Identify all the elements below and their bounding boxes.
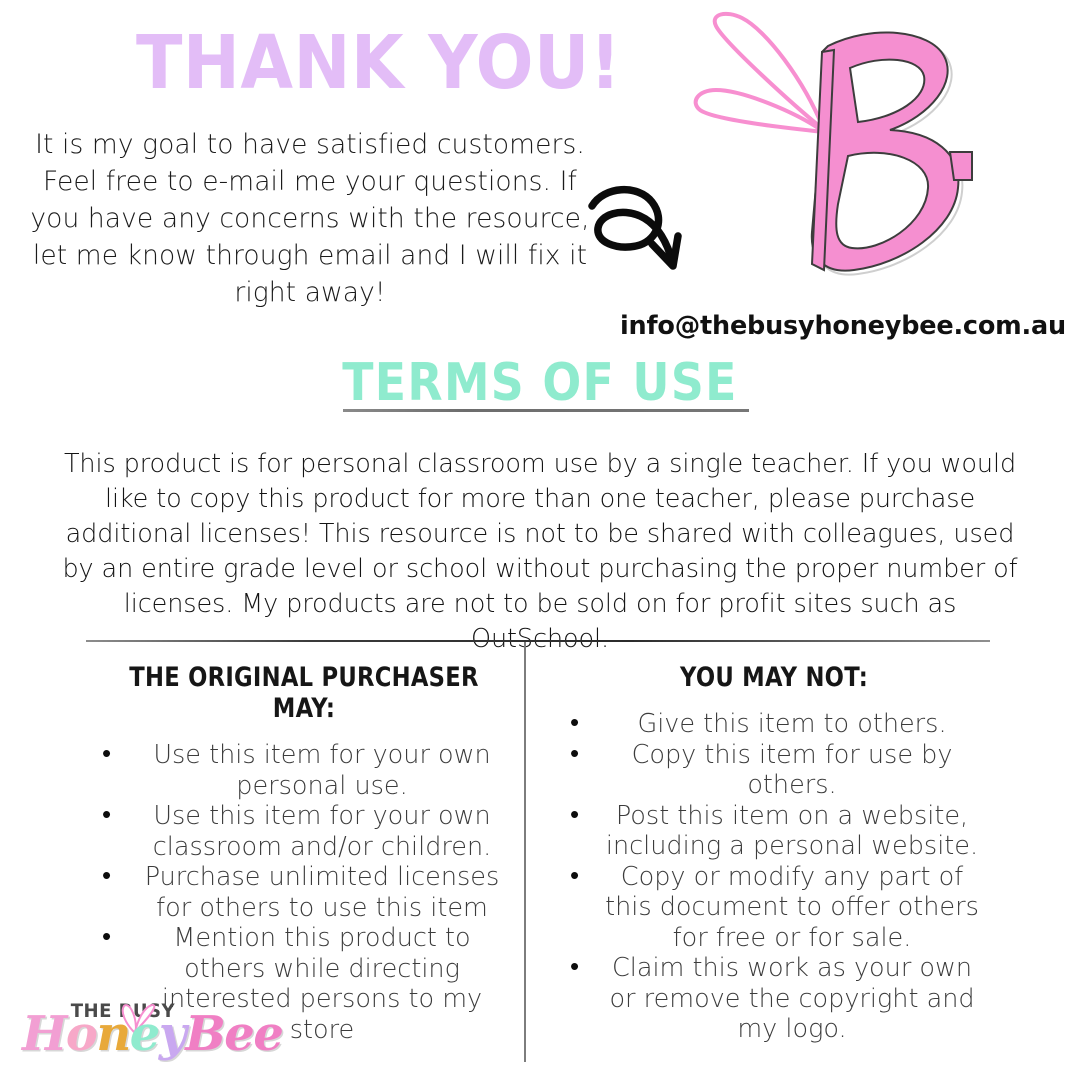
terms-of-use-title: TERMS OF USE: [65, 355, 1015, 411]
bullet-list-may-not: Give this item to others. Copy this item…: [554, 709, 994, 1045]
page-title-thank-you: THANK YOU!: [136, 24, 621, 102]
column-heading-may: THE ORIGINAL PURCHASER MAY:: [121, 662, 487, 724]
terms-paragraph: This product is for personal classroom u…: [52, 447, 1028, 657]
list-item: Copy or modify any part of this document…: [554, 862, 994, 954]
column-original-purchaser-may: THE ORIGINAL PURCHASER MAY: Use this ite…: [86, 662, 522, 1045]
brand-letter-e: e: [130, 1006, 159, 1062]
bee-b-monogram-icon: [672, 8, 1004, 308]
list-item: Copy this item for use by others.: [554, 740, 994, 801]
email-address[interactable]: info@thebusyhoneybee.com.au: [620, 311, 1066, 341]
brand-letter-h: H: [22, 1006, 66, 1062]
list-item: Use this item for your own classroom and…: [86, 801, 522, 862]
list-item: Give this item to others.: [554, 709, 994, 740]
list-item: Purchase unlimited licenses for others t…: [86, 862, 522, 923]
brand-letter-y: y: [159, 1006, 185, 1062]
terms-of-use-underline: [343, 409, 749, 412]
brand-word-bee: Bee: [185, 1006, 282, 1062]
brand-letter-o: o: [66, 1006, 97, 1062]
column-you-may-not: YOU MAY NOT: Give this item to others. C…: [554, 662, 994, 1045]
list-item: Use this item for your own personal use.: [86, 740, 522, 801]
list-item: Claim this work as your own or remove th…: [554, 953, 994, 1045]
list-item: Post this item on a website, including a…: [554, 801, 994, 862]
intro-paragraph: It is my goal to have satisfied customer…: [22, 126, 598, 311]
vertical-divider: [524, 642, 526, 1062]
brand-logo: THE BUSY HoneyBee: [14, 996, 238, 1076]
horizontal-divider: [86, 640, 990, 642]
column-heading-may-not: YOU MAY NOT:: [589, 662, 959, 693]
brand-letter-n: n: [96, 1006, 129, 1062]
brand-logo-script-text: HoneyBee: [22, 1008, 282, 1060]
